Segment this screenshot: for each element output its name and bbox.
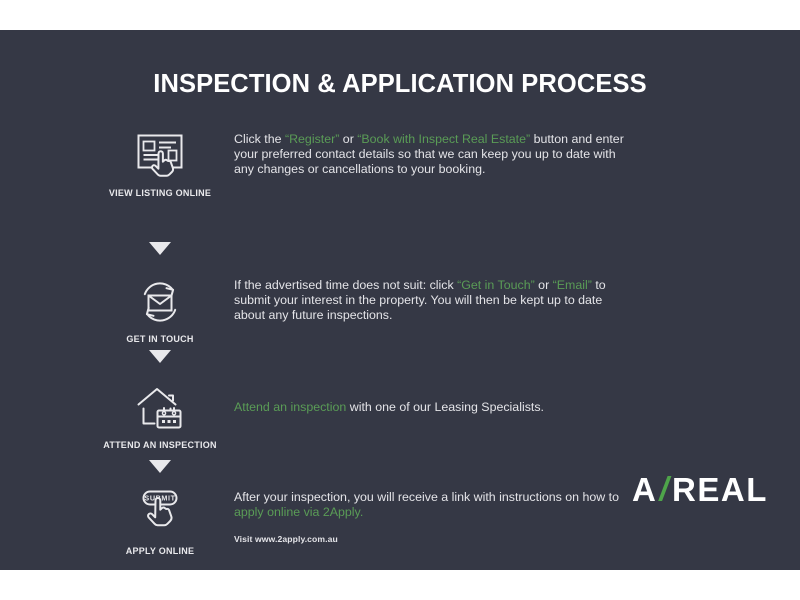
step-body-text: Attend an inspection with one of our Lea… (234, 400, 634, 415)
page-title: INSPECTION & APPLICATION PROCESS (0, 70, 800, 99)
body-segment-accent: “Book with Inspect Real Estate” (357, 132, 530, 146)
step-footnote: Visit www.2apply.com.au (234, 532, 634, 547)
body-segment-accent: “Get in Touch” (457, 278, 535, 292)
step-icon-column: VIEW LISTING ONLINE (95, 130, 225, 198)
step-label: GET IN TOUCH (95, 334, 225, 344)
body-segment: If the advertised time does not suit: cl… (234, 278, 457, 292)
logo-lead: A (632, 471, 657, 509)
arrow-down-icon (95, 242, 225, 255)
step-label: VIEW LISTING ONLINE (95, 188, 225, 198)
house-calendar-icon (95, 382, 225, 434)
listing-window-cursor-icon (95, 130, 225, 182)
step-body-text: After your inspection, you will receive … (234, 490, 634, 548)
body-segment-accent: Attend an inspection (234, 400, 346, 414)
body-segment: or (339, 132, 357, 146)
brand-logo: A/REAL (632, 471, 768, 509)
body-segment-accent: “Email” (553, 278, 592, 292)
step-label: ATTEND AN INSPECTION (95, 440, 225, 450)
body-segment-accent: “Register” (285, 132, 339, 146)
step-body-text: Click the “Register” or “Book with Inspe… (234, 132, 634, 178)
slide-canvas: INSPECTION & APPLICATION PROCESS (0, 30, 800, 570)
logo-slash-icon: / (657, 470, 672, 508)
body-segment: with one of our Leasing Specialists. (346, 400, 544, 414)
arrow-down-icon (95, 460, 225, 473)
step-icon-column: SUBMIT APPLY ONLINE (95, 488, 225, 556)
step-icon-column: GET IN TOUCH (95, 276, 225, 344)
step-body-text: If the advertised time does not suit: cl… (234, 278, 634, 324)
body-segment: After your inspection, you will receive … (234, 490, 619, 504)
step-icon-column: ATTEND AN INSPECTION (95, 382, 225, 450)
logo-tail: REAL (672, 471, 768, 509)
envelope-refresh-icon (95, 276, 225, 328)
arrow-down-icon (95, 350, 225, 363)
body-segment-accent: apply online via 2Apply. (234, 505, 363, 519)
submit-button-cursor-icon: SUBMIT (95, 488, 225, 540)
body-segment: Click the (234, 132, 285, 146)
step-label: APPLY ONLINE (95, 546, 225, 556)
body-segment: or (535, 278, 553, 292)
